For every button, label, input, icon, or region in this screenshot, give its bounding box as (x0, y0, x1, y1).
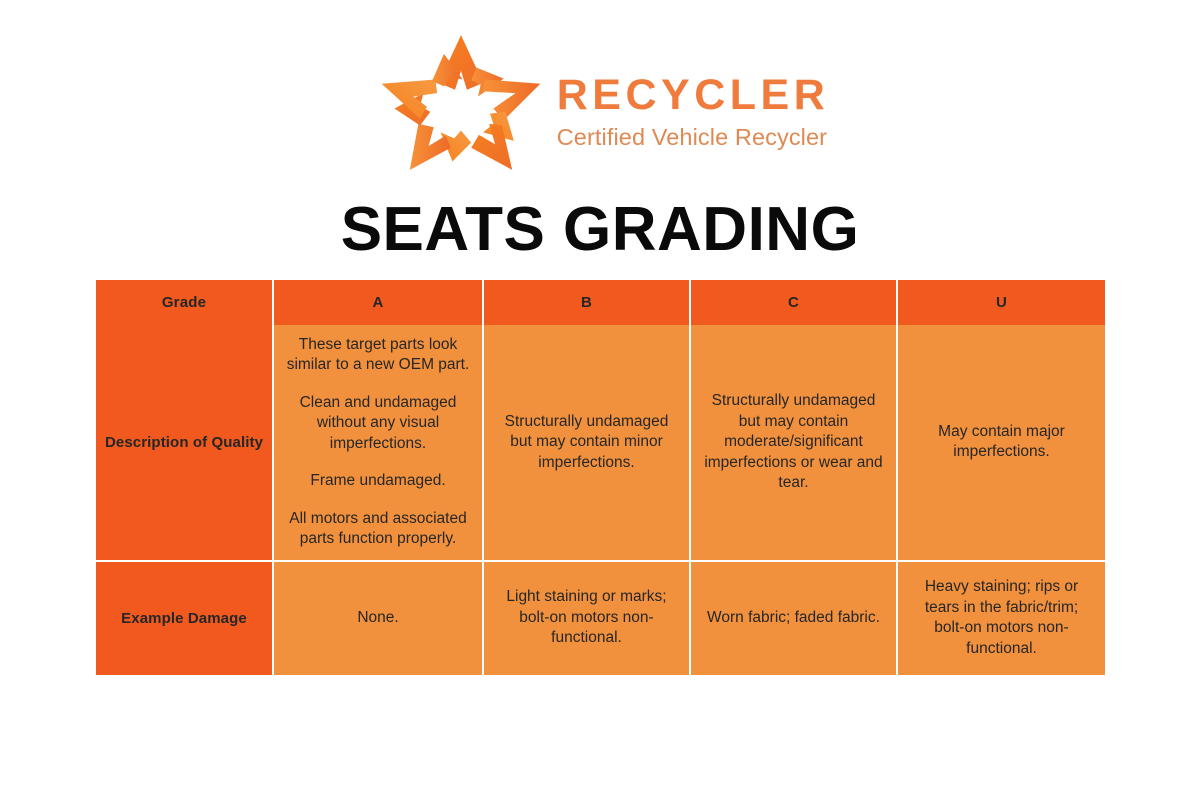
brand-logo: RECYCLER Certified Vehicle Recycler (0, 30, 1200, 175)
cell-example-c: Worn fabric; faded fabric. (691, 562, 898, 675)
row-label-example-damage: Example Damage (96, 562, 274, 675)
cell-description-c: Structurally undamaged but may contain m… (691, 325, 898, 562)
logo-title: RECYCLER (557, 74, 830, 118)
table-header-row: Grade A B C U (96, 280, 1105, 325)
column-header-c: C (691, 280, 898, 325)
grading-table: Grade A B C U Description of Quality The… (96, 280, 1105, 675)
cell-description-a: These target parts look similar to a new… (274, 325, 484, 562)
column-header-u: U (898, 280, 1105, 325)
column-header-a: A (274, 280, 484, 325)
row-label-description: Description of Quality (96, 325, 274, 562)
column-header-b: B (484, 280, 691, 325)
grading-sheet-page: RECYCLER Certified Vehicle Recycler SEAT… (0, 0, 1200, 800)
table-row-example-damage: Example Damage None. Light staining or m… (96, 562, 1105, 675)
recycling-star-icon (371, 30, 551, 175)
table-row-description: Description of Quality These target part… (96, 325, 1105, 562)
cell-description-b: Structurally undamaged but may contain m… (484, 325, 691, 562)
cell-example-u: Heavy staining; rips or tears in the fab… (898, 562, 1105, 675)
cell-example-a: None. (274, 562, 484, 675)
cell-description-u: May contain major imperfections. (898, 325, 1105, 562)
column-header-grade: Grade (96, 280, 274, 325)
page-title: SEATS GRADING (0, 196, 1200, 264)
logo-tagline: Certified Vehicle Recycler (557, 123, 830, 152)
cell-example-b: Light staining or marks; bolt-on motors … (484, 562, 691, 675)
